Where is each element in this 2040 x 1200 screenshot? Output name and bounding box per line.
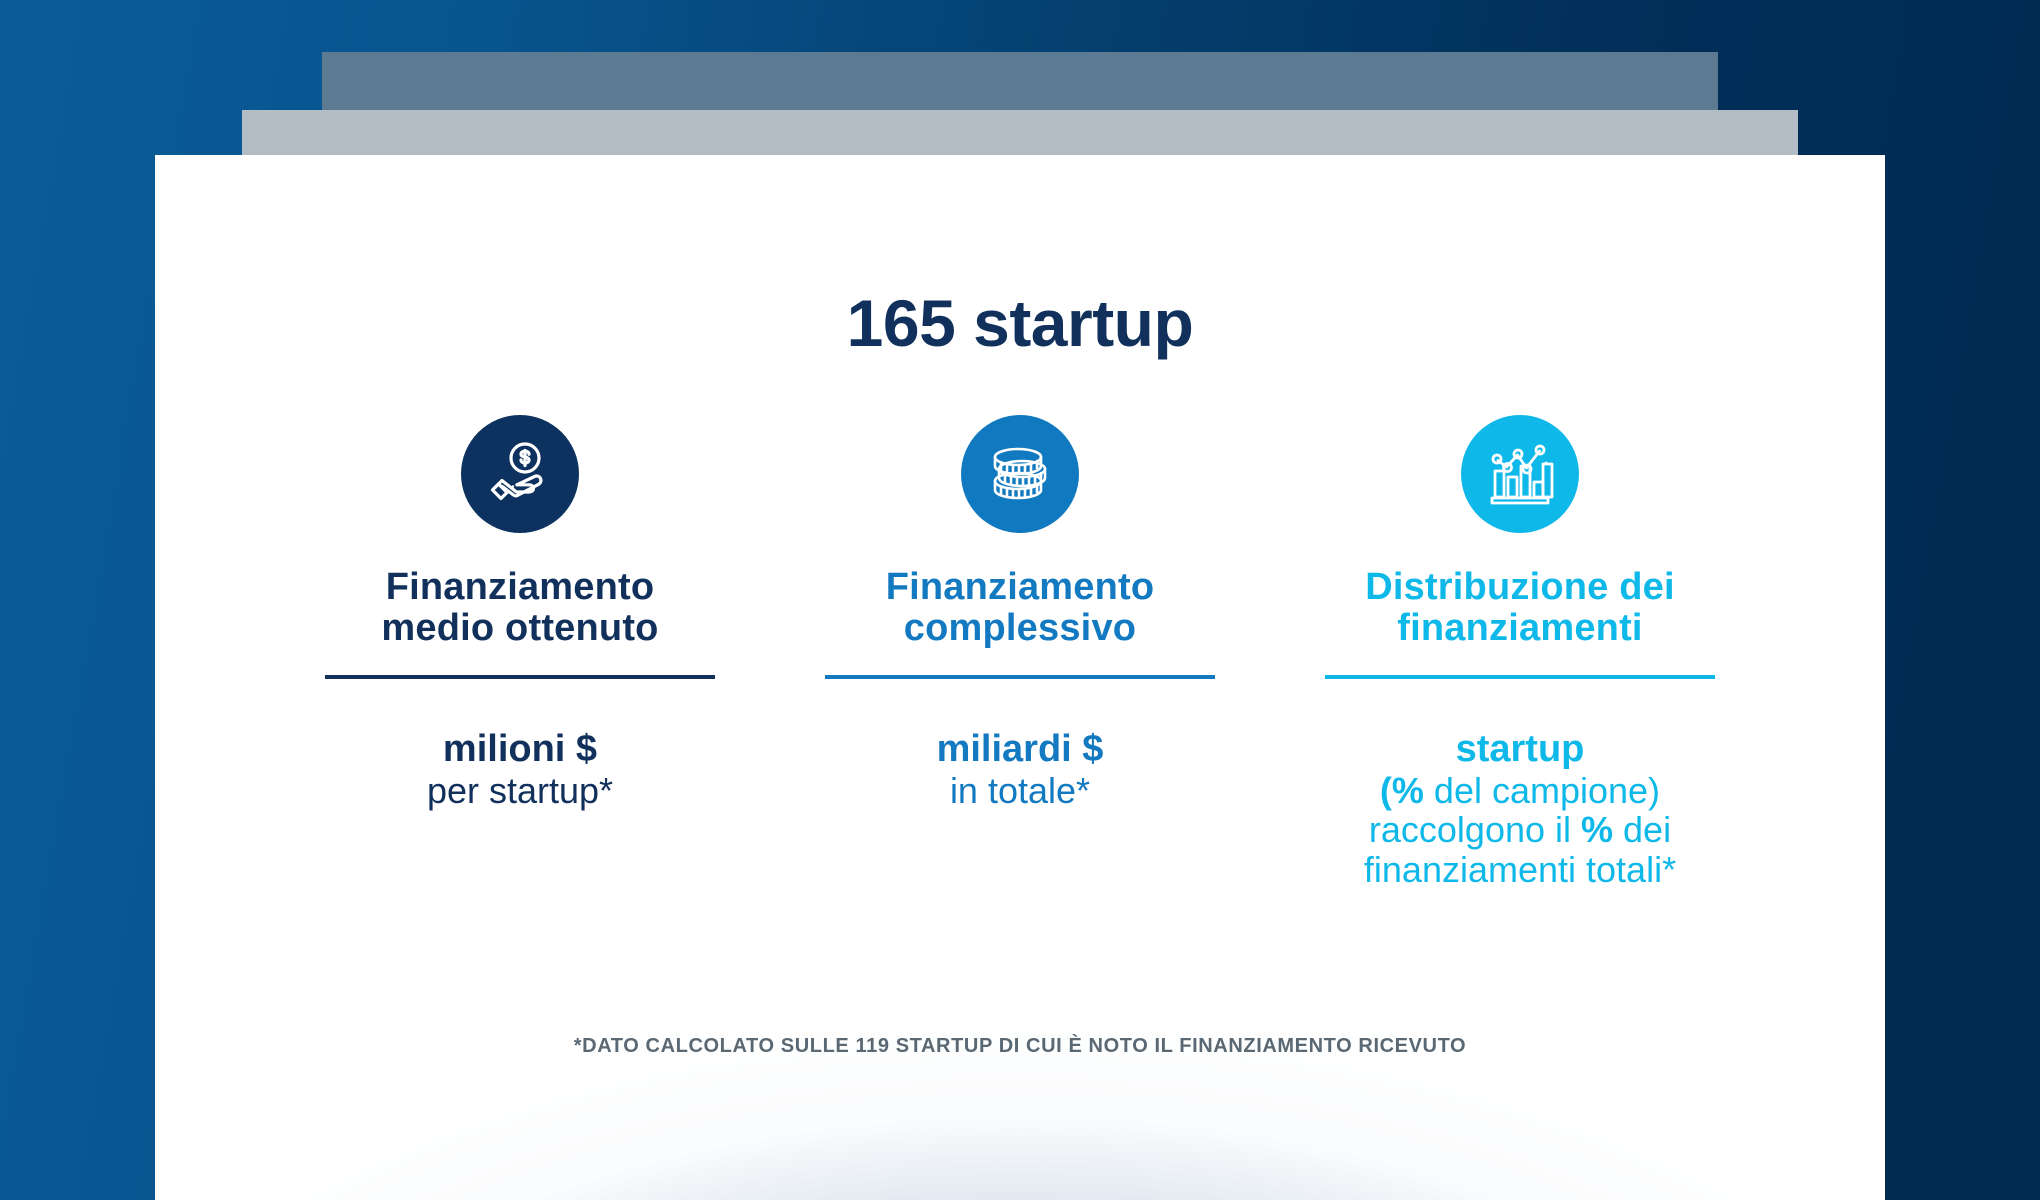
- stat-column-rule: [825, 675, 1215, 679]
- stat-value-unit: startup: [1364, 729, 1676, 771]
- page-title: 165 startup: [155, 285, 1885, 361]
- content-panel: 165 startup: [155, 155, 1885, 1200]
- stat-column-body: startup (% del campione) raccolgono il %…: [1364, 729, 1676, 890]
- stat-column-title-line1: Distribuzione dei: [1365, 566, 1675, 608]
- stat-value-caption-3: finanziamenti totali*: [1364, 850, 1676, 890]
- stat-value-caption-2: raccolgono il % dei: [1364, 810, 1676, 850]
- hand-holding-coin-icon: [461, 415, 579, 533]
- stat-column-financing-total: Finanziamento complessivo miliardi $ in …: [770, 415, 1270, 890]
- stat-column-title-line1: Finanziamento: [386, 566, 655, 608]
- stat-column-body: miliardi $ in totale*: [937, 729, 1104, 810]
- stat-value-caption-1: (% del campione): [1364, 771, 1676, 811]
- slide-stage: 165 startup: [0, 0, 2040, 1200]
- stat-column-body: milioni $ per startup*: [427, 729, 613, 810]
- stat-column-rule: [325, 675, 715, 679]
- stat-value-unit: milioni $: [427, 729, 613, 771]
- stat-columns: Finanziamento medio ottenuto milioni $ p…: [155, 415, 1885, 890]
- stat-value-unit: miliardi $: [937, 729, 1104, 771]
- bar-chart-line-icon: [1461, 415, 1579, 533]
- stat-column-title-line2: medio ottenuto: [381, 607, 658, 649]
- footnote: *DATO CALCOLATO SULLE 119 STARTUP DI CUI…: [155, 1035, 1885, 1058]
- stat-column-title: Finanziamento complessivo: [886, 567, 1155, 649]
- stat-column-title-line1: Finanziamento: [886, 566, 1155, 608]
- stat-column-financing-distribution: Distribuzione dei finanziamenti startup …: [1270, 415, 1770, 890]
- stat-column-title-line2: finanziamenti: [1397, 607, 1642, 649]
- coin-stack-icon: [961, 415, 1079, 533]
- stat-value-caption: in totale*: [937, 771, 1104, 811]
- stat-column-title-line2: complessivo: [904, 607, 1136, 649]
- stat-column-title: Distribuzione dei finanziamenti: [1365, 567, 1675, 649]
- stat-column-title: Finanziamento medio ottenuto: [381, 567, 658, 649]
- stat-value-caption: per startup*: [427, 771, 613, 811]
- stat-column-financing-average: Finanziamento medio ottenuto milioni $ p…: [270, 415, 770, 890]
- stat-column-rule: [1325, 675, 1715, 679]
